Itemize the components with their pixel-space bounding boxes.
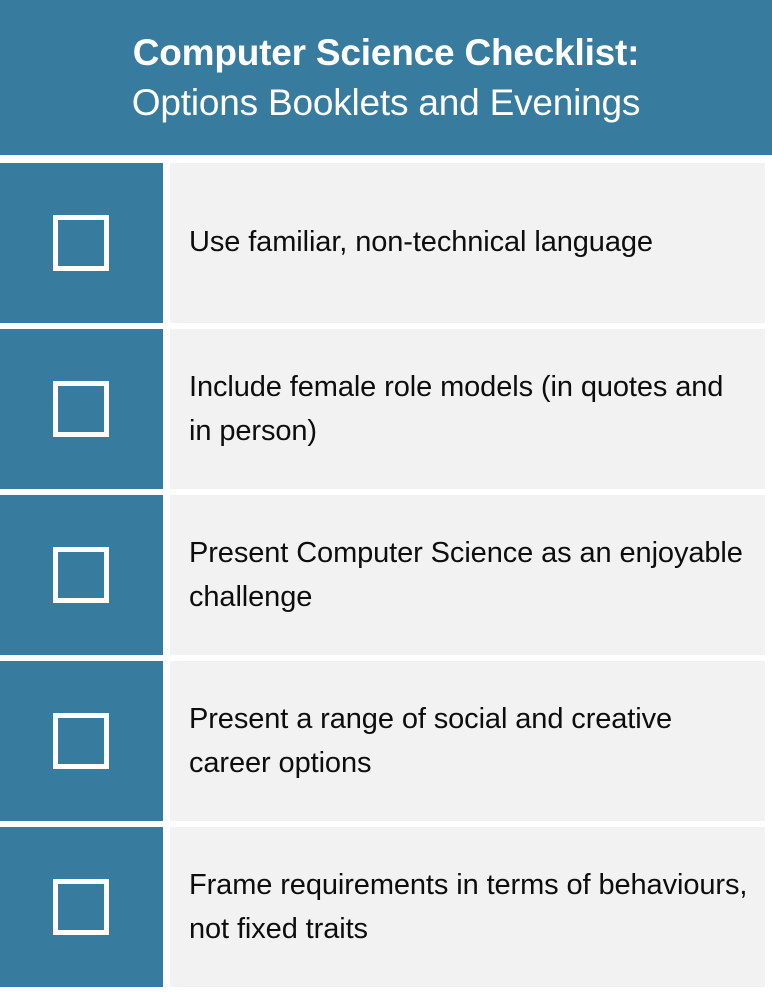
checklist-item-label: Present Computer Science as an enjoyable… [189, 531, 751, 620]
checklist-item-cell: Present Computer Science as an enjoyable… [170, 495, 765, 655]
checklist-item-label: Frame requirements in terms of behaviour… [189, 863, 751, 952]
header-banner: Computer Science Checklist: Options Book… [0, 0, 772, 155]
checklist-row[interactable]: Include female role models (in quotes an… [0, 329, 772, 489]
checklist-item-label: Include female role models (in quotes an… [189, 365, 751, 454]
page-title-line1: Computer Science Checklist: [133, 28, 640, 78]
checkbox-empty-icon[interactable] [53, 713, 109, 769]
row-divider [163, 163, 170, 323]
checkbox-cell[interactable] [0, 827, 163, 987]
checkbox-cell[interactable] [0, 661, 163, 821]
checkbox-cell[interactable] [0, 329, 163, 489]
checklist-row[interactable]: Use familiar, non-technical language [0, 163, 772, 323]
checkbox-empty-icon[interactable] [53, 547, 109, 603]
page-title-line2: Options Booklets and Evenings [132, 78, 640, 128]
checklist-page: Computer Science Checklist: Options Book… [0, 0, 772, 994]
checklist-item-cell: Include female role models (in quotes an… [170, 329, 765, 489]
checkbox-empty-icon[interactable] [53, 879, 109, 935]
checkbox-cell[interactable] [0, 495, 163, 655]
checkbox-empty-icon[interactable] [53, 215, 109, 271]
checklist-rows: Use familiar, non-technical languageIncl… [0, 163, 772, 993]
checklist-row[interactable]: Frame requirements in terms of behaviour… [0, 827, 772, 987]
checkbox-empty-icon[interactable] [53, 381, 109, 437]
checklist-item-label: Present a range of social and creative c… [189, 697, 751, 786]
row-divider [163, 827, 170, 987]
checklist-item-cell: Use familiar, non-technical language [170, 163, 765, 323]
row-divider [163, 329, 170, 489]
row-divider [163, 661, 170, 821]
checklist-item-cell: Present a range of social and creative c… [170, 661, 765, 821]
checklist-item-label: Use familiar, non-technical language [189, 218, 653, 268]
checkbox-cell[interactable] [0, 163, 163, 323]
checklist-row[interactable]: Present Computer Science as an enjoyable… [0, 495, 772, 655]
checklist-row[interactable]: Present a range of social and creative c… [0, 661, 772, 821]
checklist-item-cell: Frame requirements in terms of behaviour… [170, 827, 765, 987]
row-divider [163, 495, 170, 655]
